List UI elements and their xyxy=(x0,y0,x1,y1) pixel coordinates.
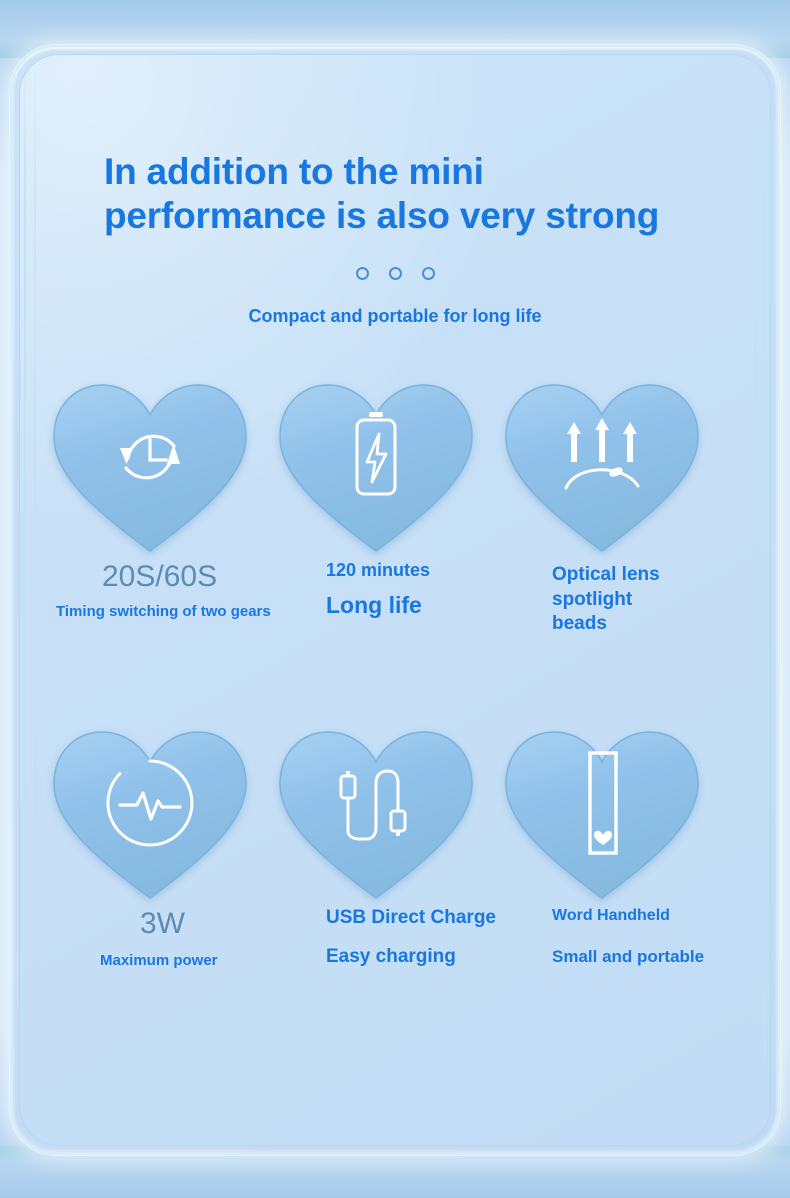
usb-cable-icon xyxy=(276,726,476,906)
dot-icon xyxy=(422,267,435,280)
heart-badge xyxy=(50,726,250,906)
dot-icon xyxy=(356,267,369,280)
heart-badge xyxy=(502,726,702,906)
feature-label: Easy charging xyxy=(326,946,456,969)
feature-card-battery: 120 minutes Long life xyxy=(282,379,508,636)
dot-decoration xyxy=(56,267,734,280)
feature-label: Small and portable xyxy=(552,947,704,967)
feature-value: Word Handheld xyxy=(552,908,670,925)
page-title-line-2: performance is also very strong xyxy=(104,194,734,238)
feature-value: 3W xyxy=(140,908,185,940)
feature-label: Optical lens spotlight beads xyxy=(552,563,687,636)
feature-grid: 20S/60S Timing switching of two gears xyxy=(56,379,734,969)
heart-badge xyxy=(276,379,476,559)
feature-value: USB Direct Charge xyxy=(326,908,496,928)
feature-label: Long life xyxy=(326,592,422,620)
feature-card-handheld: Word Handheld Small and portable xyxy=(508,726,734,970)
content-area: In addition to the mini performance is a… xyxy=(0,0,790,1198)
page-title-line-1: In addition to the mini xyxy=(104,151,484,192)
heart-badge xyxy=(502,379,702,559)
feature-card-power: 3W Maximum power xyxy=(56,726,282,970)
heart-badge xyxy=(50,379,250,559)
page-title: In addition to the mini performance is a… xyxy=(56,150,734,237)
heart-badge xyxy=(276,726,476,906)
dot-icon xyxy=(389,267,402,280)
lens-beam-icon xyxy=(502,379,702,559)
feature-value: 20S/60S xyxy=(102,561,217,593)
timer-refresh-icon xyxy=(50,379,250,559)
page-subtitle: Compact and portable for long life xyxy=(56,306,734,327)
feature-label: Maximum power xyxy=(100,952,218,970)
feature-card-timing: 20S/60S Timing switching of two gears xyxy=(56,379,282,636)
feature-label: Timing switching of two gears xyxy=(56,603,271,621)
pulse-circle-icon xyxy=(50,726,250,906)
battery-bolt-icon xyxy=(276,379,476,559)
handheld-flashlight-icon xyxy=(502,726,702,906)
feature-card-usb: USB Direct Charge Easy charging xyxy=(282,726,508,970)
feature-value: 120 minutes xyxy=(326,561,430,580)
feature-card-lens: Optical lens spotlight beads xyxy=(508,379,734,636)
